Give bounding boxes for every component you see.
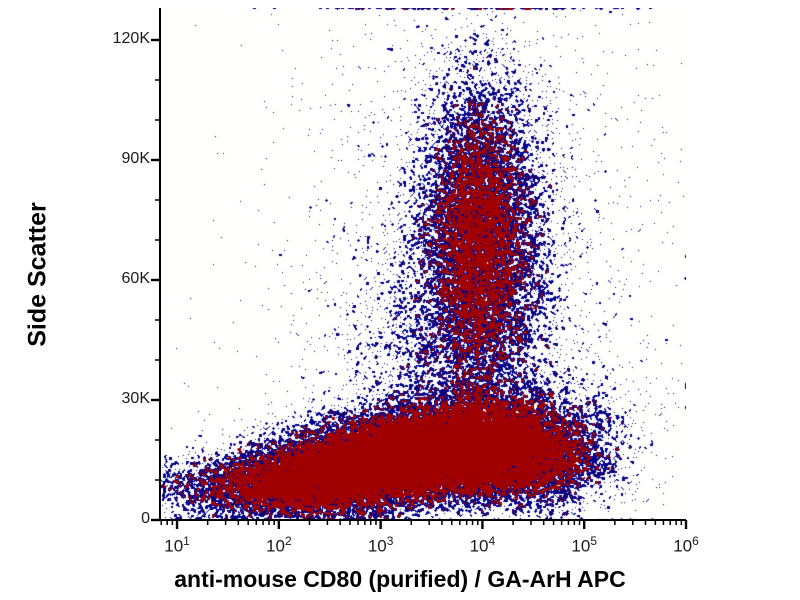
x-tick-label: 105 xyxy=(544,534,624,557)
x-tick-exponent: 2 xyxy=(285,534,292,548)
x-tick-base: 10 xyxy=(266,537,285,556)
y-tick-label: 120K xyxy=(88,30,150,48)
flow-cytometry-figure: 030K60K90K120K101102103104105106 Side Sc… xyxy=(0,0,800,600)
x-tick-exponent: 3 xyxy=(387,534,394,548)
x-tick-base: 10 xyxy=(470,537,489,556)
y-tick-label: 60K xyxy=(88,270,150,288)
x-tick-label: 101 xyxy=(137,534,217,557)
x-tick-exponent: 1 xyxy=(183,534,190,548)
x-tick-base: 10 xyxy=(368,537,387,556)
x-tick-base: 10 xyxy=(673,537,692,556)
x-tick-label: 104 xyxy=(442,534,522,557)
x-tick-label: 102 xyxy=(239,534,319,557)
scatter-plot-canvas xyxy=(160,8,686,520)
x-tick-exponent: 5 xyxy=(590,534,597,548)
x-tick-exponent: 4 xyxy=(489,534,496,548)
y-tick-label: 30K xyxy=(88,390,150,408)
x-tick-label: 103 xyxy=(341,534,421,557)
x-tick-base: 10 xyxy=(571,537,590,556)
x-axis-title: anti-mouse CD80 (purified) / GA-ArH APC xyxy=(0,566,800,593)
y-tick-label: 90K xyxy=(88,150,150,168)
y-tick-label: 0 xyxy=(88,510,150,528)
y-axis-title: Side Scatter xyxy=(24,175,53,375)
x-tick-label: 106 xyxy=(646,534,726,557)
x-tick-base: 10 xyxy=(164,537,183,556)
x-tick-exponent: 6 xyxy=(692,534,699,548)
